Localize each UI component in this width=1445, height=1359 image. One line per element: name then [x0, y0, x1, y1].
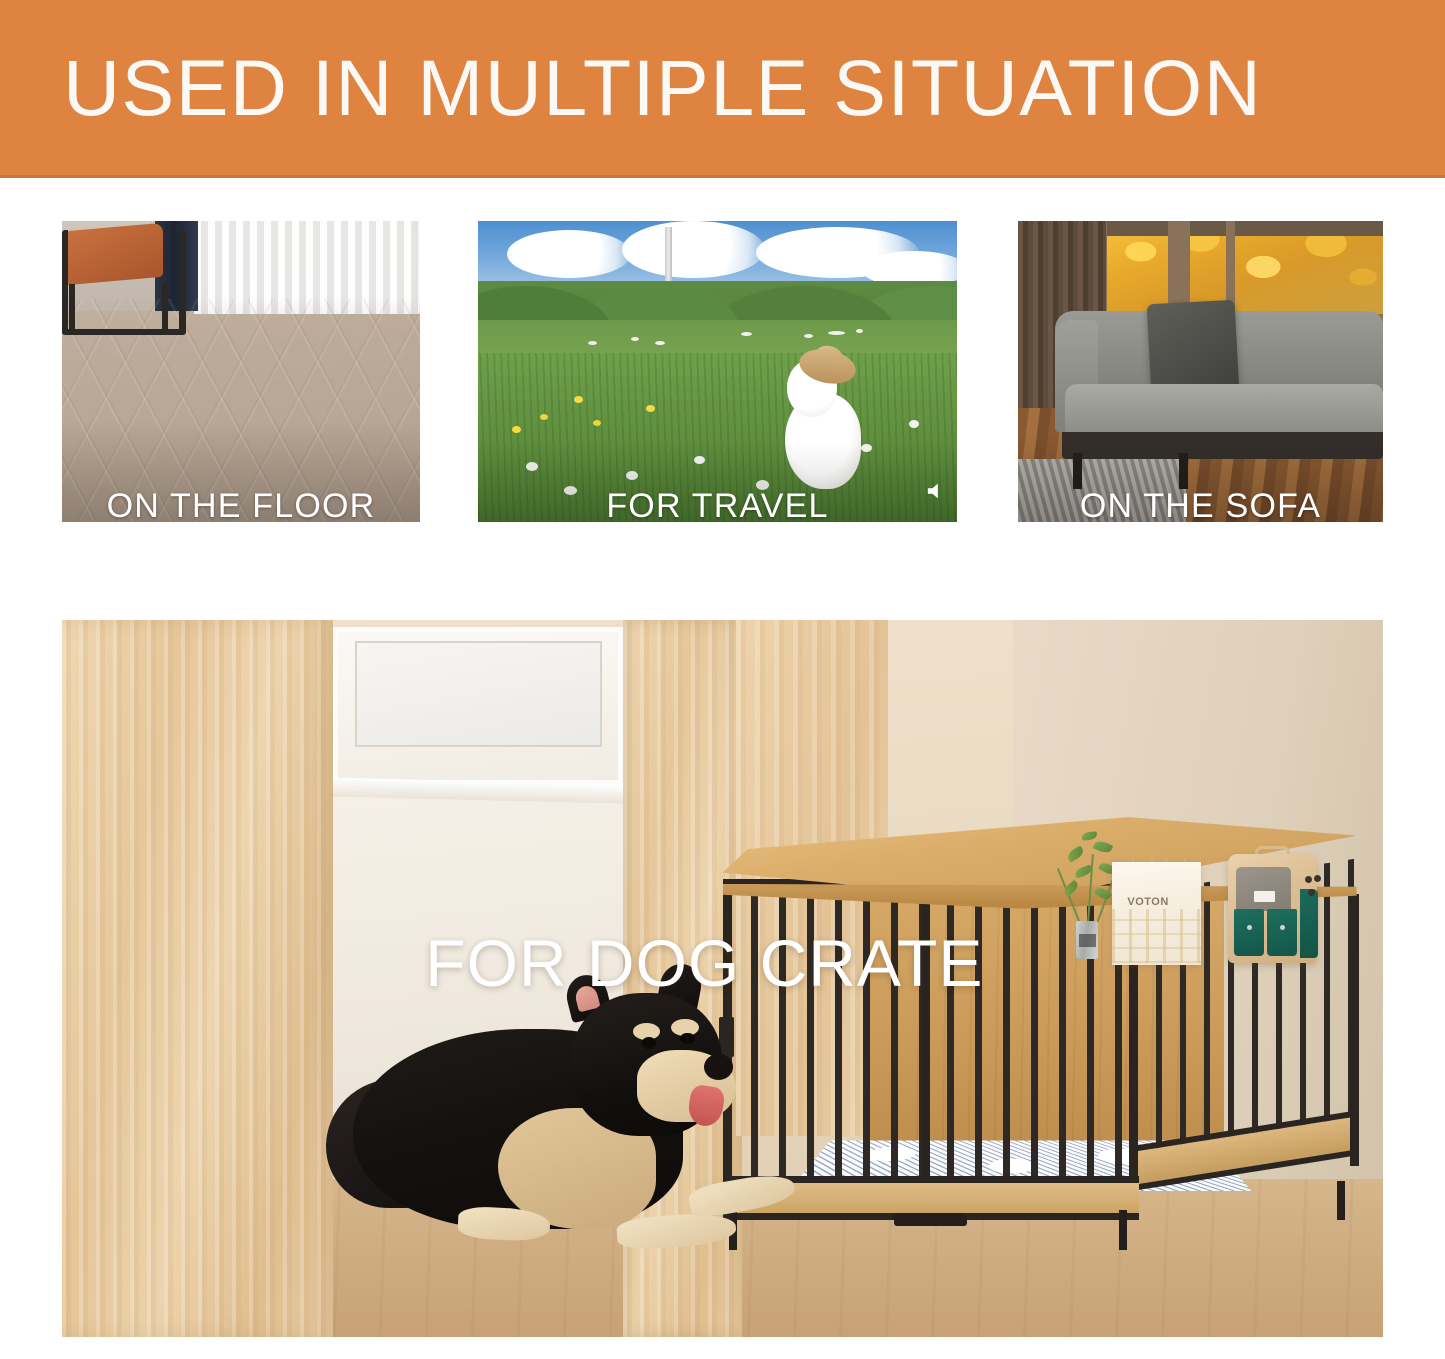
gift-bag-pattern — [1112, 909, 1201, 963]
travel-scene-image — [478, 221, 957, 522]
carrier-side-panel — [1300, 889, 1318, 958]
carrier-pocket-left — [1234, 909, 1264, 956]
thumbnail-on-the-sofa[interactable]: ON THE SOFA — [1018, 221, 1383, 522]
sofa-scene-image — [1018, 221, 1383, 522]
curtain-left — [62, 620, 333, 1337]
hero-caption: FOR DOG CRATE — [425, 925, 983, 1001]
gift-bag-brand-text: VOTON — [1127, 896, 1168, 908]
window — [333, 627, 624, 785]
carrier-brand-label — [1254, 891, 1275, 901]
mute-speaker-icon — [925, 482, 947, 500]
thumbnail-for-travel[interactable]: FOR TRAVEL — [478, 221, 957, 522]
plant-pot-label — [1079, 934, 1096, 947]
thumbnail-label: ON THE SOFA — [1018, 487, 1383, 522]
floor-scene-image — [62, 221, 420, 522]
hero-dog-crate-image[interactable]: VOTON FOR DOG CRATE — [62, 620, 1383, 1337]
carrier-pocket-right — [1267, 909, 1297, 956]
thumbnail-label: ON THE FLOOR — [62, 487, 420, 522]
crate-frame-right — [1350, 894, 1359, 1166]
thumbnail-label: FOR TRAVEL — [478, 487, 957, 522]
crate-door-handle[interactable] — [894, 1213, 967, 1226]
carrier-mesh-panel — [1236, 867, 1290, 912]
dog-nose — [704, 1054, 733, 1080]
dog-crate: VOTON — [723, 785, 1384, 1280]
thumbnail-on-the-floor[interactable]: ON THE FLOOR — [62, 221, 420, 522]
